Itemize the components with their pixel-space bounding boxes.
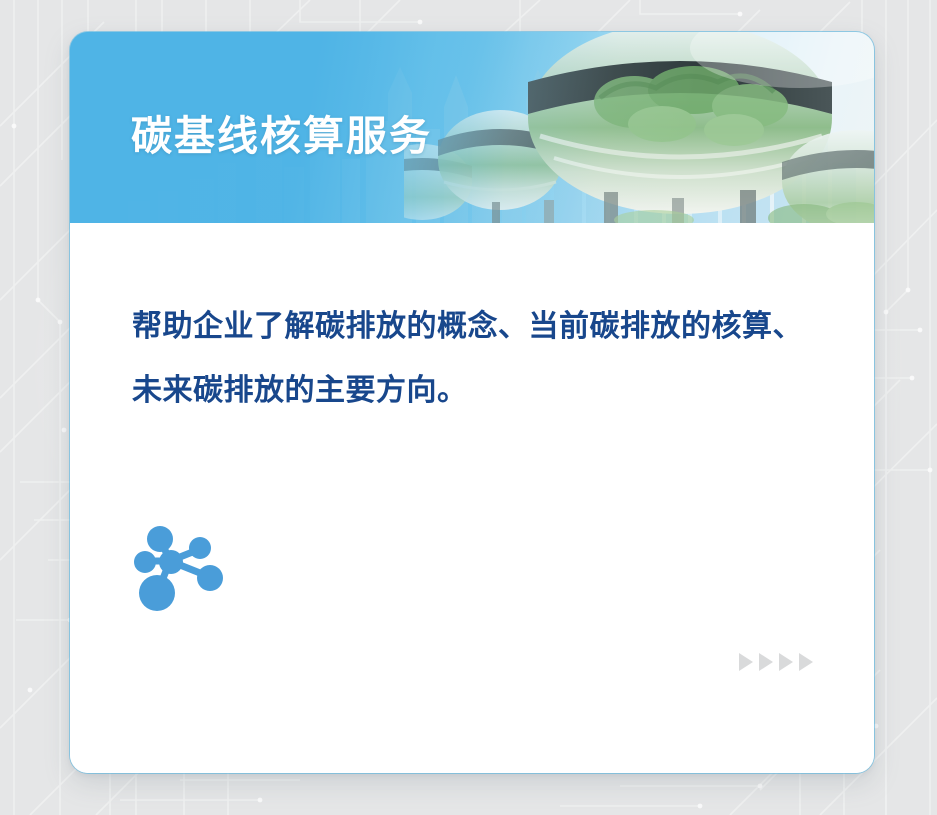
service-description: 帮助企业了解碳排放的概念、当前碳排放的核算、未来碳排放的主要方向。 bbox=[132, 295, 804, 423]
service-card: 碳基线核算服务 帮助企业了解碳排放的概念、当前碳排放的核算、未来碳排放的主要方向… bbox=[70, 32, 874, 773]
arrow-right-icon-4 bbox=[799, 653, 813, 671]
molecule-network-icon bbox=[130, 519, 224, 613]
page-title: 碳基线核算服务 bbox=[131, 102, 432, 162]
arrow-right-icon-3 bbox=[779, 653, 793, 671]
forward-arrows[interactable] bbox=[739, 653, 813, 671]
biodome-structures-illustration bbox=[404, 32, 874, 223]
card-body: 帮助企业了解碳排放的概念、当前碳排放的核算、未来碳排放的主要方向。 bbox=[70, 223, 874, 773]
arrow-right-icon-2 bbox=[759, 653, 773, 671]
card-header-banner: 碳基线核算服务 bbox=[70, 32, 874, 223]
arrow-right-icon-1 bbox=[739, 653, 753, 671]
